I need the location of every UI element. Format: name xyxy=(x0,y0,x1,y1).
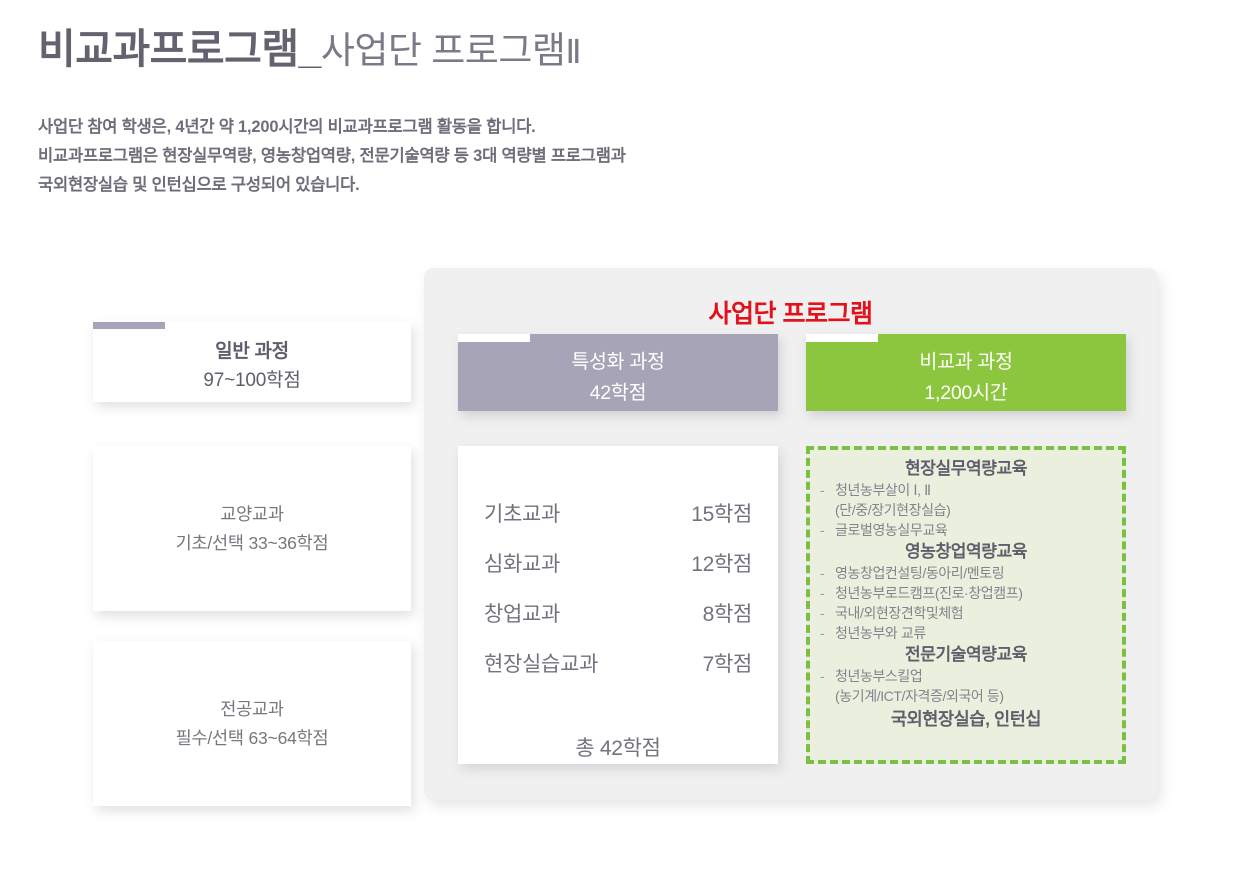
specialized-head-line2: 42학점 xyxy=(590,376,647,405)
panel-title: 사업단 프로그램 xyxy=(424,294,1157,330)
credit-value: 7학점 xyxy=(703,648,752,678)
accent-bar-icon xyxy=(806,334,878,342)
program-item: - 청년농부스킬업 xyxy=(820,666,1112,686)
table-row: 기초교과 15학점 xyxy=(484,498,752,528)
program-item-text: 청년농부로드캠프(진로·창업캠프) xyxy=(835,583,1023,603)
program-item-text: 청년농부스킬업 xyxy=(835,666,922,686)
general-course-column: 일반 과정 97~100학점 교양교과 기초/선택 33~36학점 전공교과 필… xyxy=(93,322,411,806)
extracurricular-program-card: 현장실무역량교육 - 청년농부살이 Ⅰ, Ⅱ (단/중/장기현장실습) - 글로… xyxy=(806,446,1126,764)
program-item: - 청년농부와 교류 xyxy=(820,623,1112,643)
extracurricular-head-line1: 비교과 과정 xyxy=(919,341,1012,374)
credit-label: 창업교과 xyxy=(484,598,560,628)
dash-bullet-icon: - xyxy=(820,520,835,540)
card-line1: 전공교과 xyxy=(220,695,284,724)
general-course-head-line1: 일반 과정 xyxy=(215,336,289,363)
program-panel: 사업단 프로그램 특성화 과정 42학점 기초교과 15학점 심화교과 12학점… xyxy=(424,268,1157,800)
program-item: - 국내/외현장견학및체험 xyxy=(820,603,1112,623)
general-course-head-line2: 97~100학점 xyxy=(203,365,300,392)
program-group-heading: 영농창업역량교육 xyxy=(820,540,1112,563)
specialized-credits-total: 총 42학점 xyxy=(484,732,752,762)
page-title: 비교과프로그램_사업단 프로그램Ⅱ xyxy=(38,27,581,72)
page-title-roman: Ⅱ xyxy=(565,33,581,70)
dash-bullet-icon: - xyxy=(820,666,835,686)
specialized-course-column: 특성화 과정 42학점 기초교과 15학점 심화교과 12학점 창업교과 8학점… xyxy=(458,334,778,764)
credit-label: 현장실습교과 xyxy=(484,648,598,678)
credit-value: 15학점 xyxy=(691,498,752,528)
dash-bullet-icon: - xyxy=(820,603,835,623)
extracurricular-head-line2: 1,200시간 xyxy=(924,376,1007,405)
extracurricular-course-header: 비교과 과정 1,200시간 xyxy=(806,334,1126,411)
program-group-heading: 현장실무역량교육 xyxy=(820,457,1112,480)
extracurricular-course-column: 비교과 과정 1,200시간 현장실무역량교육 - 청년농부살이 Ⅰ, Ⅱ (단… xyxy=(806,334,1126,764)
program-item: - 영농창업컨설팅/동아리/멘토링 xyxy=(820,563,1112,583)
dash-bullet-icon: - xyxy=(820,480,835,500)
accent-bar-icon xyxy=(458,334,530,342)
table-row: 심화교과 12학점 xyxy=(484,548,752,578)
intro-line-3: 국외현장실습 및 인턴십으로 구성되어 있습니다. xyxy=(38,171,626,200)
card-line2: 기초/선택 33~36학점 xyxy=(176,529,329,558)
page-title-sub: 사업단 프로그램 xyxy=(321,30,566,71)
program-item-text: 글로벌영농실무교육 xyxy=(835,520,947,540)
accent-bar-icon xyxy=(93,322,165,329)
intro-paragraph: 사업단 참여 학생은, 4년간 약 1,200시간의 비교과프로그램 활동을 합… xyxy=(38,113,626,200)
program-item: - 청년농부살이 Ⅰ, Ⅱ xyxy=(820,480,1112,500)
program-item: - 청년농부로드캠프(진로·창업캠프) xyxy=(820,583,1112,603)
general-course-card-major: 전공교과 필수/선택 63~64학점 xyxy=(93,641,411,806)
table-row: 현장실습교과 7학점 xyxy=(484,648,752,678)
card-line1: 교양교과 xyxy=(220,500,284,529)
program-group-heading: 전문기술역량교육 xyxy=(820,643,1112,666)
specialized-head-line1: 특성화 과정 xyxy=(571,341,664,374)
intro-line-2: 비교과프로그램은 현장실무역량, 영농창업역량, 전문기술역량 등 3대 역량별… xyxy=(38,142,626,171)
table-row: 창업교과 8학점 xyxy=(484,598,752,628)
specialized-course-header: 특성화 과정 42학점 xyxy=(458,334,778,411)
card-line2: 필수/선택 63~64학점 xyxy=(176,724,329,753)
specialized-credits-card: 기초교과 15학점 심화교과 12학점 창업교과 8학점 현장실습교과 7학점 … xyxy=(458,446,778,764)
credit-label: 기초교과 xyxy=(484,498,560,528)
program-item: - 글로벌영농실무교육 xyxy=(820,520,1112,540)
dash-bullet-icon: - xyxy=(820,583,835,603)
extracurricular-footer: 국외현장실습, 인턴십 xyxy=(820,707,1112,731)
intro-line-1: 사업단 참여 학생은, 4년간 약 1,200시간의 비교과프로그램 활동을 합… xyxy=(38,113,626,142)
credit-value: 12학점 xyxy=(691,548,752,578)
credit-label: 심화교과 xyxy=(484,548,560,578)
program-item-subtext: (농기계/ICT/자격증/외국어 등) xyxy=(820,686,1112,706)
general-course-card-liberal-arts: 교양교과 기초/선택 33~36학점 xyxy=(93,446,411,611)
dash-bullet-icon: - xyxy=(820,563,835,583)
page-title-main: 비교과프로그램_ xyxy=(38,26,321,72)
program-item-text: 영농창업컨설팅/동아리/멘토링 xyxy=(835,563,1004,583)
program-item-subtext: (단/중/장기현장실습) xyxy=(820,500,1112,520)
general-course-header-card: 일반 과정 97~100학점 xyxy=(93,322,411,402)
program-item-text: 국내/외현장견학및체험 xyxy=(835,603,963,623)
program-item-text: 청년농부살이 Ⅰ, Ⅱ xyxy=(835,480,931,500)
credit-value: 8학점 xyxy=(703,598,752,628)
dash-bullet-icon: - xyxy=(820,623,835,643)
program-item-text: 청년농부와 교류 xyxy=(835,623,926,643)
